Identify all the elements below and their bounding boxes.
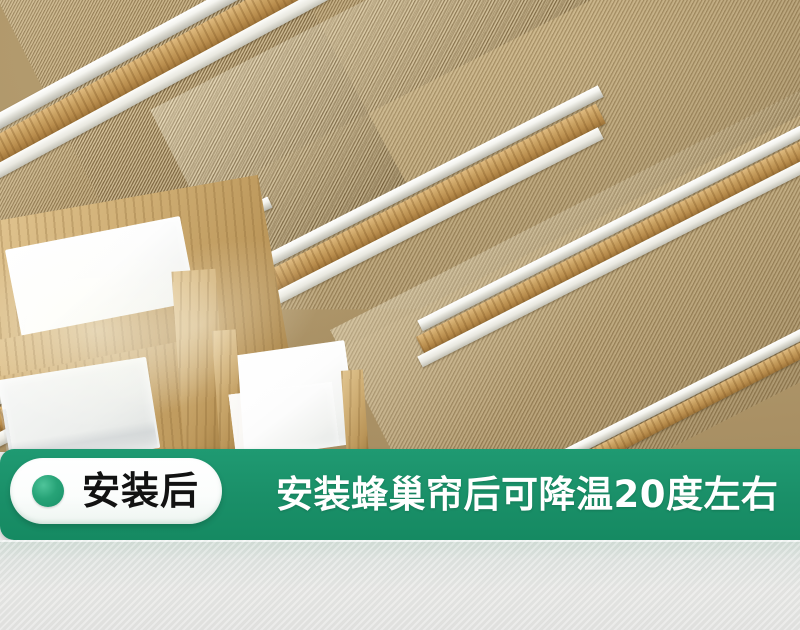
status-dot-icon [32,475,64,507]
banner-headline: 安装蜂巢帘后可降温20度左右 [276,449,779,540]
window-glass-far-right [228,382,339,452]
caption-banner: 安装后 安装蜂巢帘后可降温20度左右 [0,449,800,540]
footer-stripe-pattern [0,540,800,630]
footer-panel [0,540,800,630]
ceiling-blinds-photo [0,0,800,452]
status-badge-label: 安装后 [82,472,199,510]
product-detail-image: 安装后 安装蜂巢帘后可降温20度左右 [0,0,800,630]
status-badge: 安装后 [10,458,222,524]
